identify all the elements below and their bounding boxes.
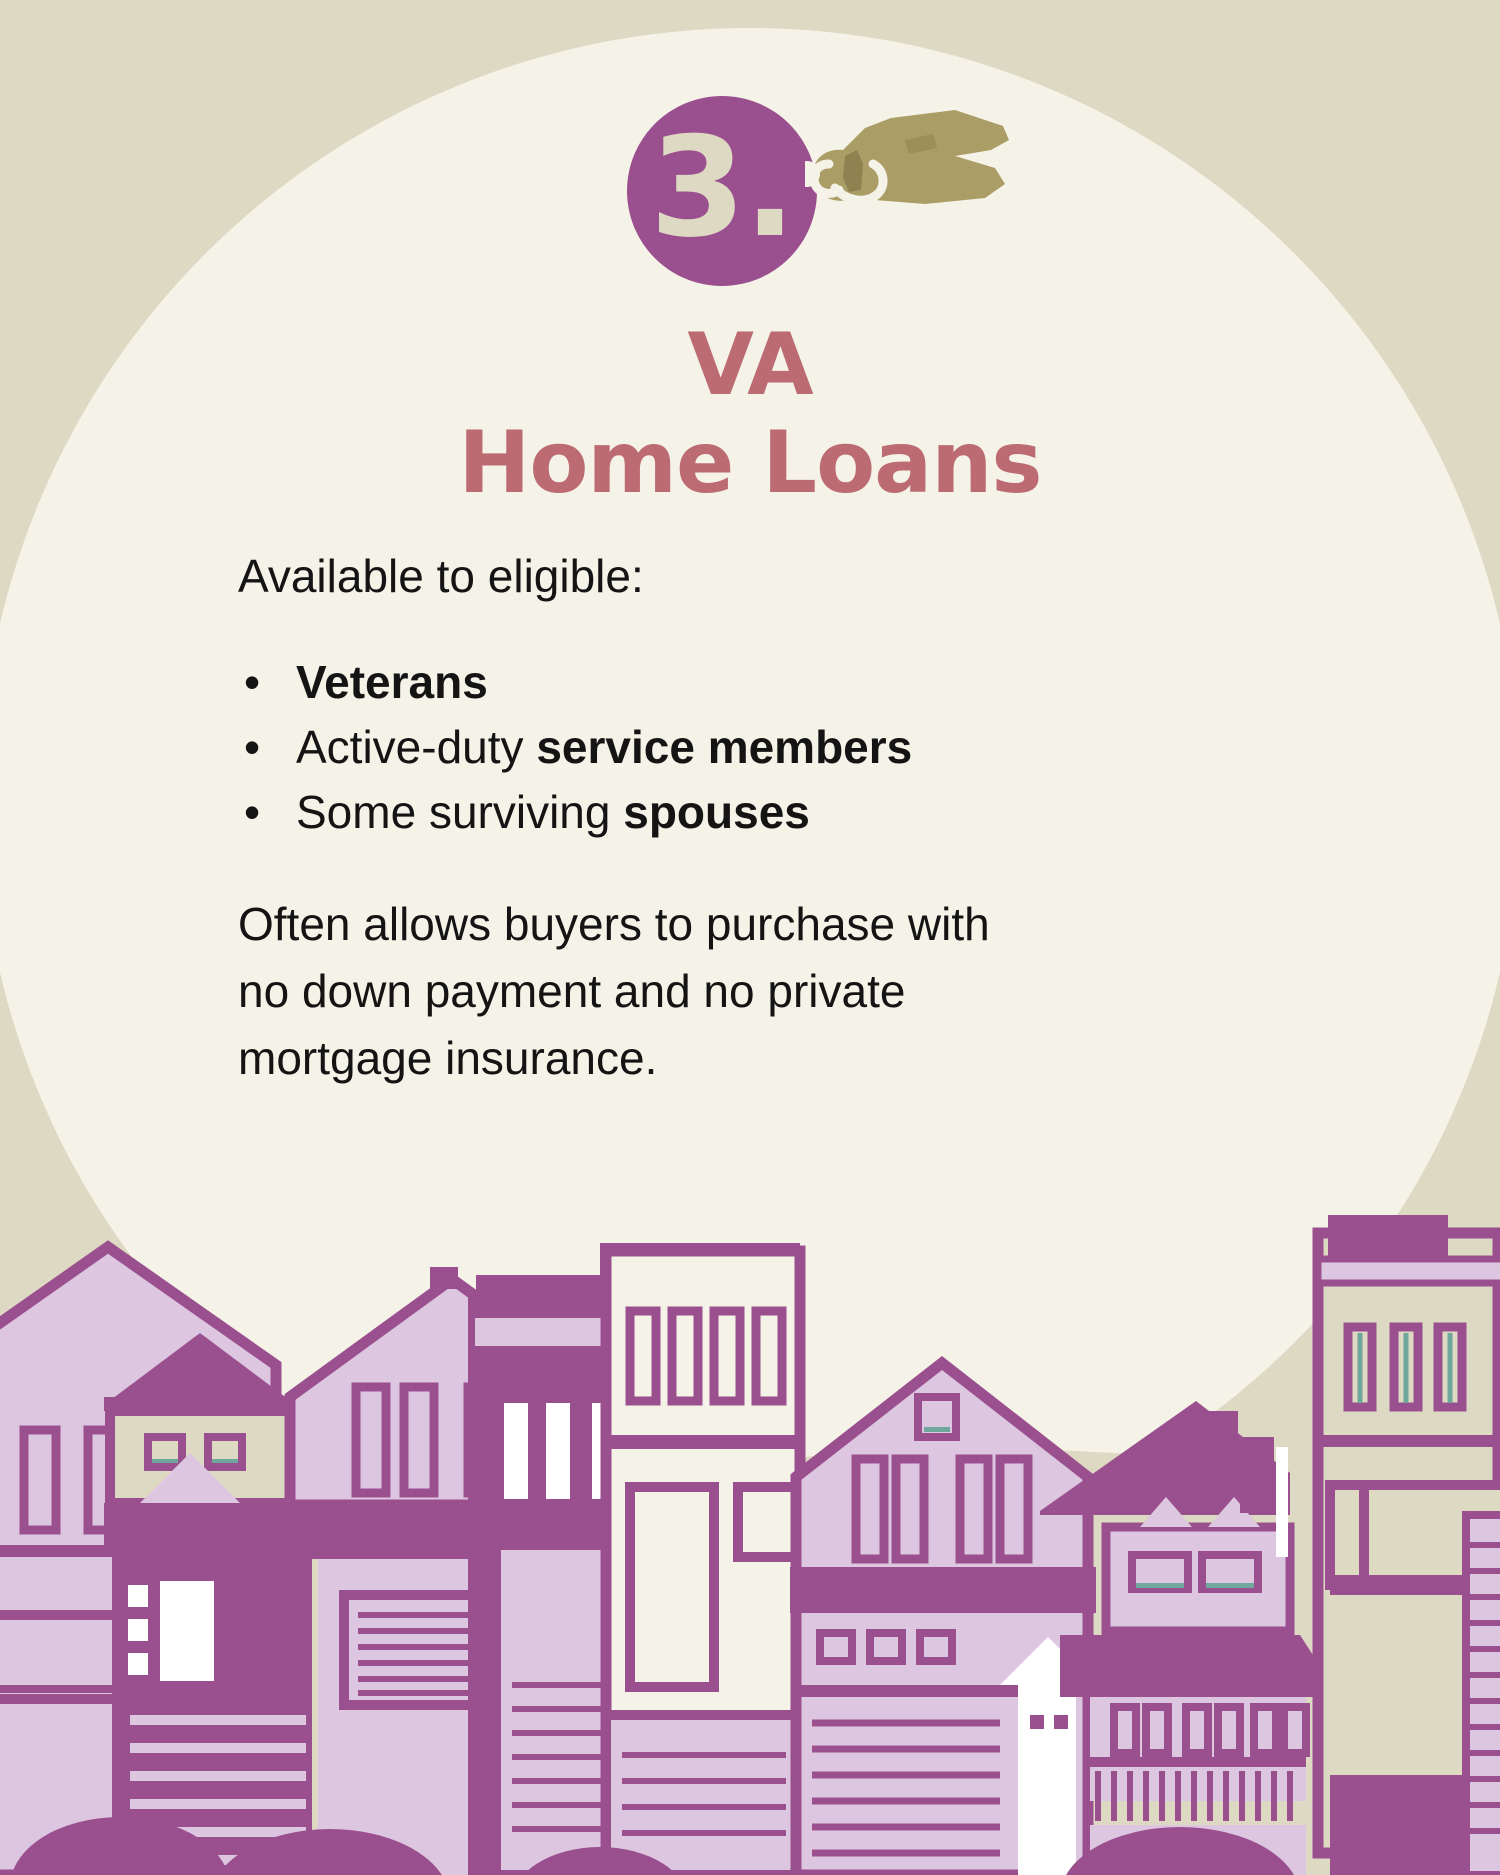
step-number-badge: 3. [627, 96, 817, 286]
step-badge-group: 3. [0, 96, 1500, 286]
eligibility-list: • Veterans • Active-duty service members… [238, 650, 1038, 846]
title-block: VA Home Loans [0, 322, 1500, 513]
title-line-1: VA [0, 322, 1500, 408]
step-number: 3. [650, 119, 794, 257]
poster-canvas: 3. VA Home Loans Available to eligible: … [0, 0, 1500, 1875]
list-item-emphasis: spouses [623, 786, 810, 838]
key-icon [805, 104, 1015, 254]
bullet-marker: • [244, 780, 260, 845]
bullet-marker: • [244, 715, 260, 780]
list-item-emphasis: service members [536, 721, 912, 773]
title-line-2: Home Loans [0, 414, 1500, 513]
list-item: • Veterans [238, 650, 1038, 715]
detail-paragraph: Often allows buyers to purchase with no … [238, 891, 1038, 1091]
neighborhood-illustration [0, 1215, 1500, 1875]
body-copy: Available to eligible: • Veterans • Acti… [238, 548, 1038, 1092]
list-item-plain-before: Active-duty [296, 721, 536, 773]
bullet-marker: • [244, 650, 260, 715]
list-item-plain-before: Some surviving [296, 786, 623, 838]
list-item-emphasis: Veterans [296, 656, 488, 708]
lead-text: Available to eligible: [238, 548, 1038, 606]
list-item: • Some surviving spouses [238, 780, 1038, 845]
list-item: • Active-duty service members [238, 715, 1038, 780]
building-center-storefront [600, 1243, 802, 1875]
right-edge-siding [1466, 1515, 1500, 1875]
house-four [790, 1363, 1096, 1875]
